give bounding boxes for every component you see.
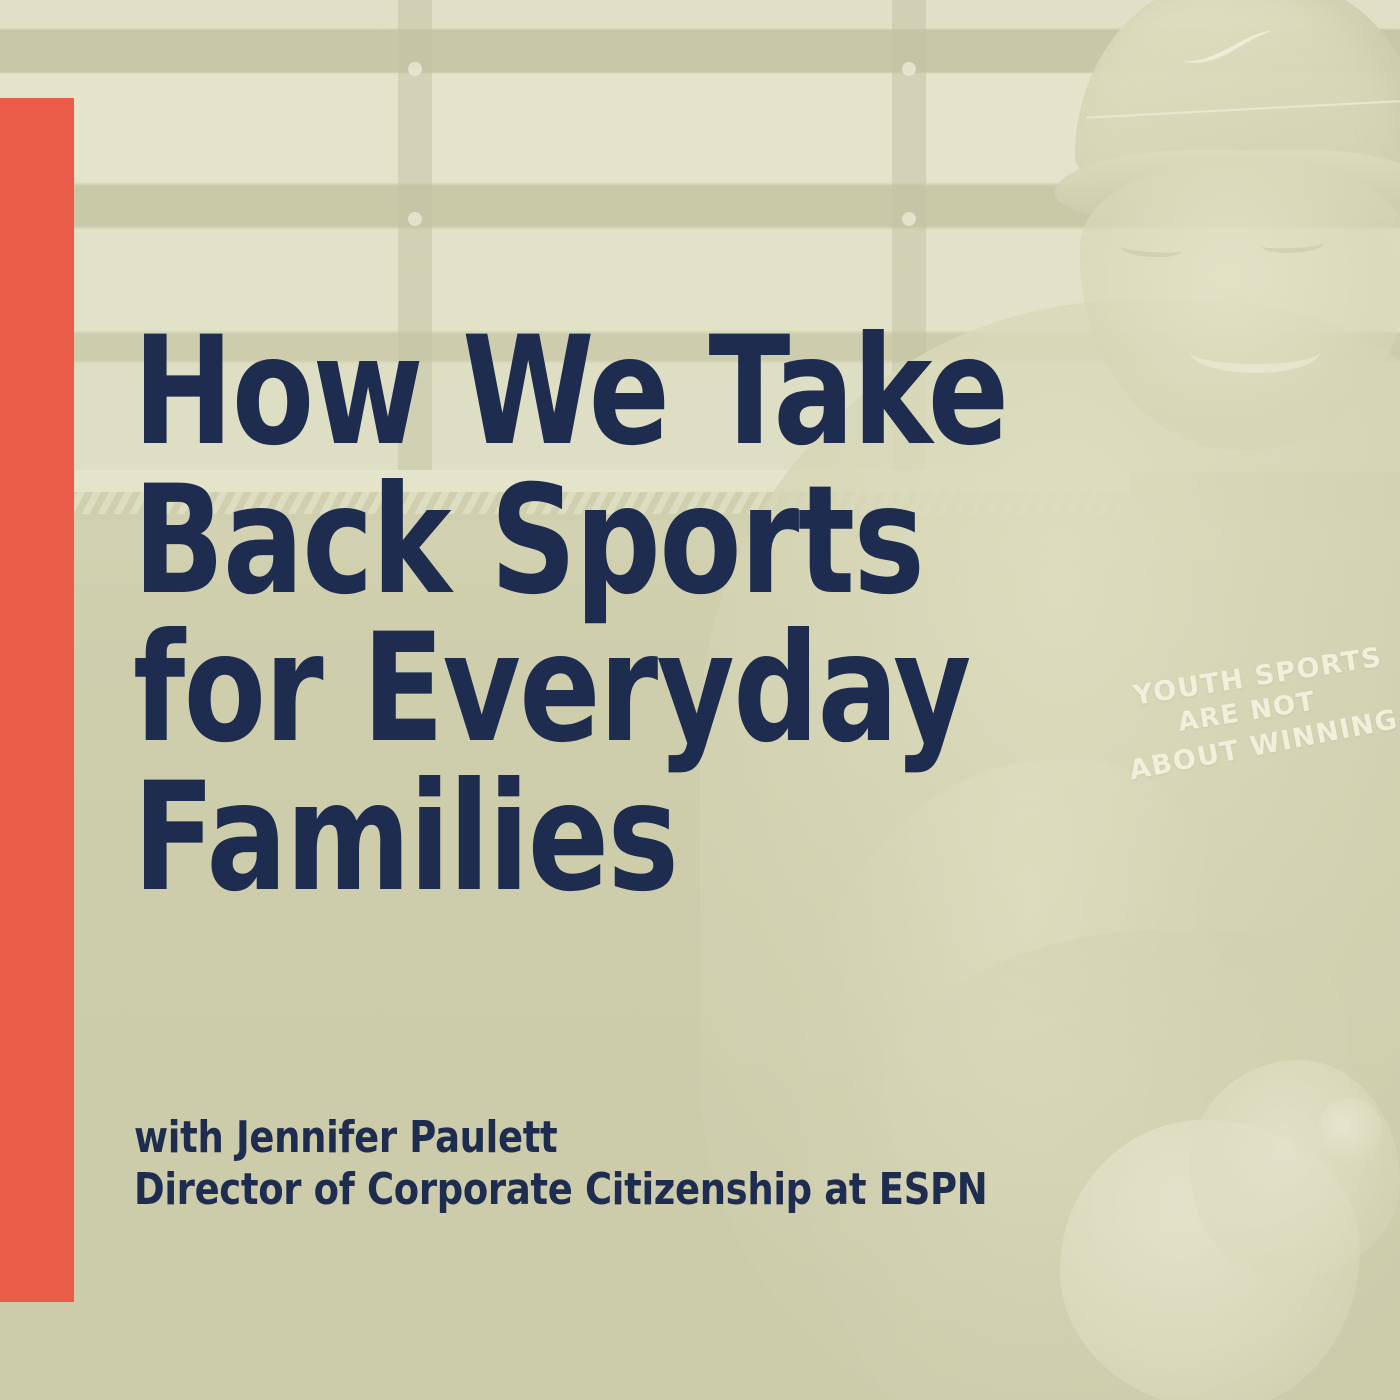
episode-title-line-2: Back Sports	[133, 467, 1029, 616]
episode-title-line-1: How We Take	[133, 318, 1029, 467]
red-accent-bar	[0, 98, 74, 1302]
guest-byline: with Jennifer Paulett Director of Corpor…	[134, 1112, 987, 1216]
guest-role-line: Director of Corporate Citizenship at ESP…	[134, 1164, 987, 1216]
episode-cover-artwork: YOUTH SPORTS ARE NOT ABOUT WINNING How W…	[0, 0, 1400, 1400]
episode-title-line-4: Families	[133, 764, 1029, 913]
episode-title-line-3: for Everyday	[133, 615, 1029, 764]
episode-title: How We Take Back Sports for Everyday Fam…	[133, 318, 1029, 912]
guest-name-line: with Jennifer Paulett	[134, 1112, 987, 1164]
